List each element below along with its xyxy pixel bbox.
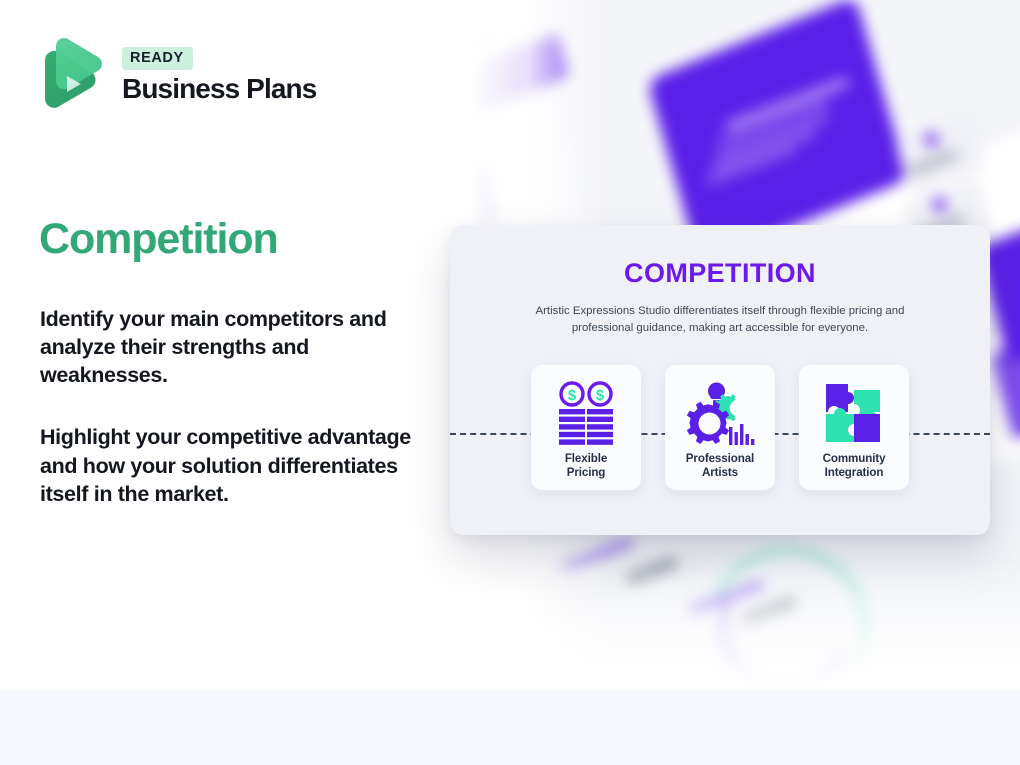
slide-preview-panel[interactable]: COMPETITION Artistic Expressions Studio … [450, 225, 990, 535]
gears-lightbulb-chart-icon [683, 374, 757, 452]
feature-card-community-integration[interactable]: Community Integration [799, 365, 909, 490]
body-paragraph-1: Identify your main competitors and analy… [40, 305, 430, 389]
brand-wordmark: READY Business Plans [122, 47, 316, 104]
bottom-band [0, 690, 1020, 765]
feature-card-label: Professional Artists [686, 452, 754, 481]
page-title: Competition [39, 216, 278, 263]
coin-stacks-icon: $ $ [551, 374, 621, 452]
svg-text:$: $ [596, 387, 605, 404]
slide-title: COMPETITION [450, 258, 990, 289]
feature-card-row: $ $ [450, 365, 990, 490]
feature-card-flexible-pricing[interactable]: $ $ [531, 365, 641, 490]
feature-card-label: Flexible Pricing [565, 452, 607, 481]
left-content-column: READY Business Plans Competition Identif… [0, 0, 440, 690]
body-paragraph-2: Highlight your competitive advantage and… [40, 423, 430, 507]
brand-name: Business Plans [122, 74, 316, 105]
slide-subtitle: Artistic Expressions Studio differentiat… [520, 303, 920, 337]
feature-card-label: Community Integration [823, 452, 886, 481]
feature-card-professional-artists[interactable]: Professional Artists [665, 365, 775, 490]
ready-badge: READY [122, 47, 193, 70]
brand-logo[interactable]: READY Business Plans [40, 36, 316, 116]
background-bottom-fade [430, 560, 1020, 690]
svg-text:$: $ [568, 387, 577, 404]
body-copy: Identify your main competitors and analy… [40, 305, 430, 508]
slide-preview-page: READY Business Plans Competition Identif… [0, 0, 1020, 765]
puzzle-pieces-icon [820, 374, 888, 452]
play-triangles-logo-icon [40, 36, 108, 116]
